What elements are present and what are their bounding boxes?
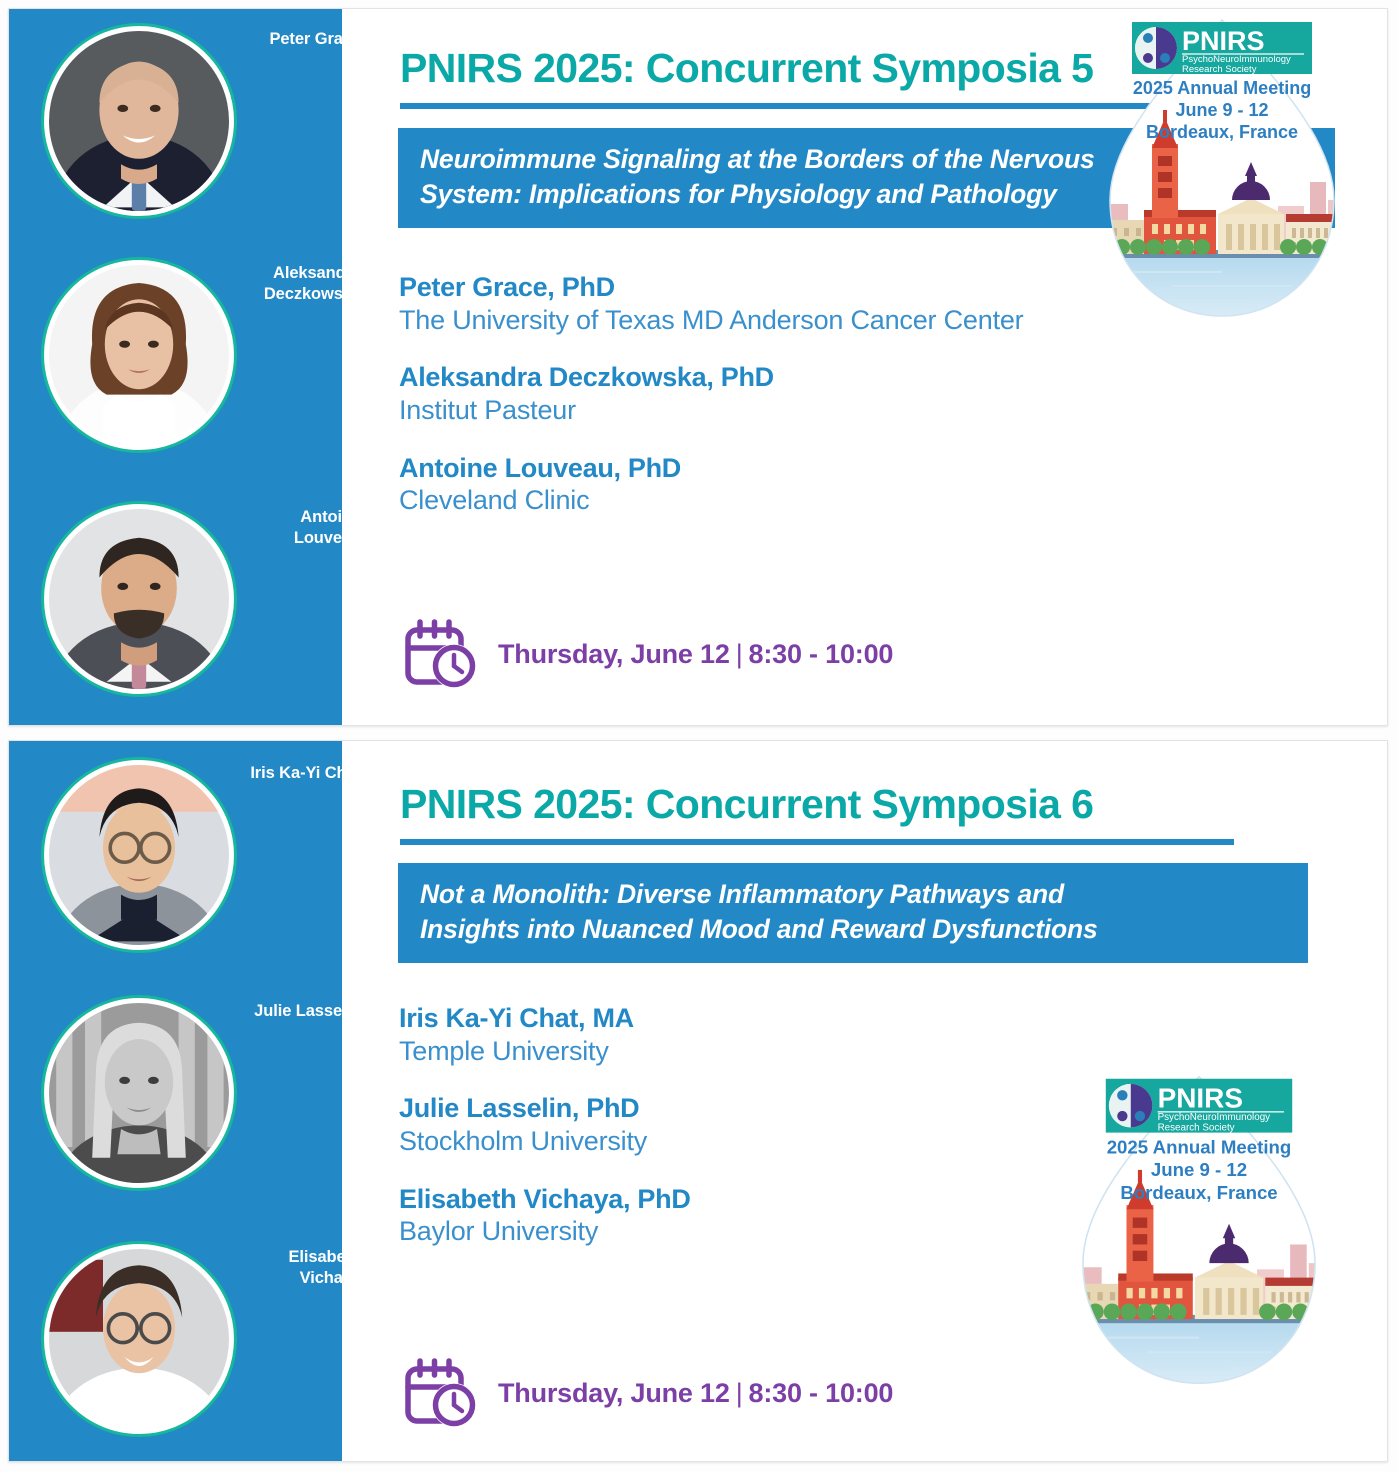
datetime-separator: | bbox=[730, 639, 749, 669]
portrait-iris-ka-yi-chat bbox=[49, 765, 229, 945]
flyer-page: Peter Grace bbox=[0, 0, 1398, 1472]
symposia-panel: Peter Grace bbox=[8, 8, 1388, 726]
logo-meeting-line1: 2025 Annual Meeting bbox=[1107, 1136, 1292, 1157]
speaker-photo-item: Iris Ka-Yi Chat bbox=[41, 757, 361, 953]
session-date: Thursday, June 12 bbox=[498, 1378, 730, 1408]
datetime-separator: | bbox=[730, 1378, 749, 1408]
speaker-photo-item: Antoine Louveau bbox=[41, 501, 361, 697]
speaker-photo-item: Aleksandra Deczkowska bbox=[41, 257, 361, 453]
avatar bbox=[41, 501, 237, 697]
session-datetime-text: Thursday, June 12|8:30 - 10:00 bbox=[498, 639, 893, 670]
calendar-clock-icon bbox=[404, 619, 480, 689]
speaker-entry: Antoine Louveau, PhD Cleveland Clinic bbox=[399, 453, 1023, 517]
speaker-affiliation: Stockholm University bbox=[399, 1125, 691, 1157]
speaker-photo-sidebar: Iris Ka-Yi Chat bbox=[9, 741, 342, 1461]
speaker-name: Peter Grace, PhD bbox=[399, 272, 1023, 304]
logo-acronym: PNIRS bbox=[1158, 1083, 1243, 1114]
session-datetime: Thursday, June 12|8:30 - 10:00 bbox=[404, 1358, 893, 1428]
symposia-panel: Iris Ka-Yi Chat bbox=[8, 740, 1388, 1462]
speaker-affiliation: Institut Pasteur bbox=[399, 394, 1023, 426]
subtitle-line-2: Insights into Nuanced Mood and Reward Dy… bbox=[420, 912, 1288, 947]
subtitle-line-1: Not a Monolith: Diverse Inflammatory Pat… bbox=[420, 877, 1288, 912]
logo-society-line2: Research Society bbox=[1158, 1123, 1235, 1134]
portrait-aleksandra-deczkowska bbox=[49, 265, 229, 445]
portrait-peter-grace bbox=[49, 31, 229, 211]
speaker-name: Iris Ka-Yi Chat, MA bbox=[399, 1003, 691, 1035]
speaker-affiliation: Baylor University bbox=[399, 1215, 691, 1247]
avatar bbox=[41, 1241, 237, 1437]
speaker-list: Peter Grace, PhD The University of Texas… bbox=[399, 272, 1023, 517]
speaker-entry: Elisabeth Vichaya, PhD Baylor University bbox=[399, 1184, 691, 1248]
speaker-name: Antoine Louveau, PhD bbox=[399, 453, 1023, 485]
speaker-affiliation: Cleveland Clinic bbox=[399, 484, 1023, 516]
logo-meeting-line2: June 9 - 12 bbox=[1151, 1159, 1247, 1180]
avatar bbox=[41, 757, 237, 953]
symposia-content: PNIRS 2025: Concurrent Symposia 5 Neuroi… bbox=[342, 9, 1387, 725]
logo-society-line1: PsychoNeuroImmunology bbox=[1158, 1112, 1271, 1123]
pnirs-meeting-logo: PNIRS PsychoNeuroImmunology Research Soc… bbox=[1054, 1066, 1344, 1396]
session-time: 8:30 - 10:00 bbox=[749, 639, 894, 669]
speaker-affiliation: Temple University bbox=[399, 1035, 691, 1067]
logo-meeting-line3: Bordeaux, France bbox=[1146, 122, 1298, 142]
speaker-photo-item: Julie Lasselin bbox=[41, 995, 361, 1191]
page-title: PNIRS 2025: Concurrent Symposia 6 bbox=[400, 781, 1093, 828]
logo-acronym: PNIRS bbox=[1182, 26, 1265, 56]
pnirs-meeting-logo: PNIRS PsychoNeuroImmunology Research Soc… bbox=[1082, 14, 1362, 324]
speaker-photo-sidebar: Peter Grace bbox=[9, 9, 342, 725]
session-datetime: Thursday, June 12|8:30 - 10:00 bbox=[404, 619, 893, 689]
speaker-name: Aleksandra Deczkowska, PhD bbox=[399, 362, 1023, 394]
speaker-photo-item: Peter Grace bbox=[41, 23, 361, 219]
portrait-julie-lasselin bbox=[49, 1003, 229, 1183]
speaker-entry: Julie Lasselin, PhD Stockholm University bbox=[399, 1093, 691, 1157]
title-underline bbox=[400, 839, 1234, 845]
logo-meeting-line3: Bordeaux, France bbox=[1120, 1182, 1277, 1203]
calendar-clock-icon bbox=[404, 1358, 480, 1428]
speaker-name: Elisabeth Vichaya, PhD bbox=[399, 1184, 691, 1216]
speaker-entry: Iris Ka-Yi Chat, MA Temple University bbox=[399, 1003, 691, 1067]
speaker-entry: Peter Grace, PhD The University of Texas… bbox=[399, 272, 1023, 336]
speaker-affiliation: The University of Texas MD Anderson Canc… bbox=[399, 304, 1023, 336]
session-date: Thursday, June 12 bbox=[498, 639, 730, 669]
logo-society-line2: Research Society bbox=[1182, 64, 1257, 75]
symposia-content: PNIRS 2025: Concurrent Symposia 6 Not a … bbox=[342, 741, 1387, 1461]
avatar bbox=[41, 23, 237, 219]
avatar bbox=[41, 257, 237, 453]
speaker-photo-item: Elisabeth Vichaya bbox=[41, 1241, 361, 1437]
speaker-entry: Aleksandra Deczkowska, PhD Institut Past… bbox=[399, 362, 1023, 426]
logo-meeting-line2: June 9 - 12 bbox=[1175, 100, 1268, 120]
session-datetime-text: Thursday, June 12|8:30 - 10:00 bbox=[498, 1378, 893, 1409]
portrait-elisabeth-vichaya bbox=[49, 1249, 229, 1429]
logo-meeting-line1: 2025 Annual Meeting bbox=[1133, 78, 1311, 98]
speaker-name: Julie Lasselin, PhD bbox=[399, 1093, 691, 1125]
portrait-antoine-louveau bbox=[49, 509, 229, 689]
page-title: PNIRS 2025: Concurrent Symposia 5 bbox=[400, 45, 1093, 92]
speaker-list: Iris Ka-Yi Chat, MA Temple University Ju… bbox=[399, 1003, 691, 1248]
session-time: 8:30 - 10:00 bbox=[749, 1378, 894, 1408]
avatar bbox=[41, 995, 237, 1191]
session-subtitle-banner: Not a Monolith: Diverse Inflammatory Pat… bbox=[398, 863, 1308, 963]
